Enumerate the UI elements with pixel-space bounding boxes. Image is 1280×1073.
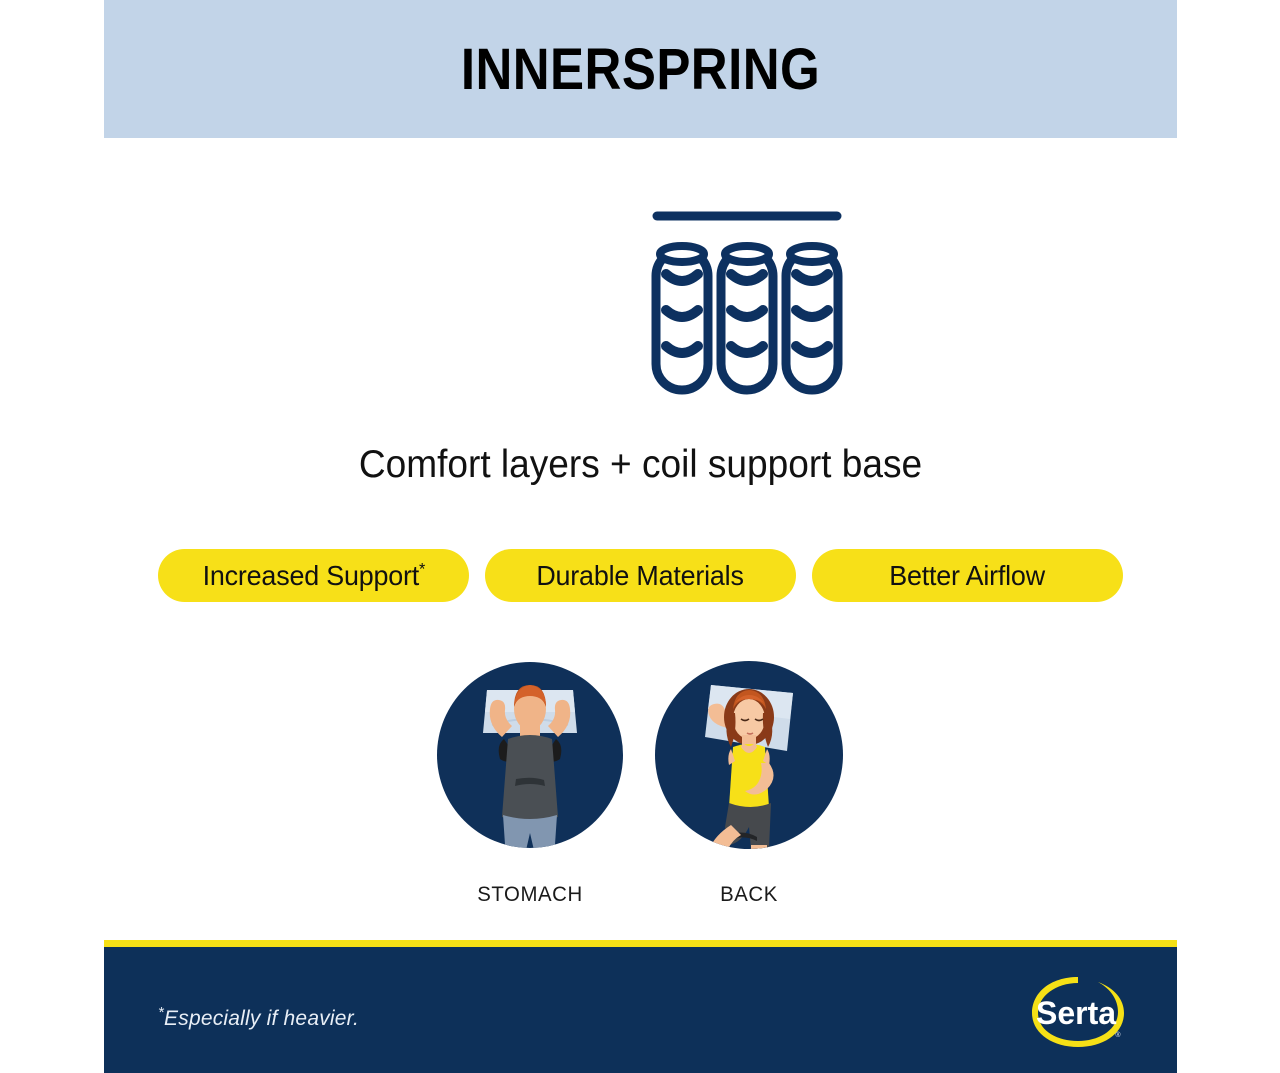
benefit-pill-label: Better Airflow — [890, 560, 1046, 592]
innerspring-infographic: INNERSPRING — [104, 0, 1177, 1073]
benefit-text: Increased Support — [202, 560, 418, 591]
sleep-position-label: BACK — [652, 883, 846, 907]
coil-spring-icon — [534, 200, 954, 400]
registered-mark: ® — [1115, 1031, 1121, 1039]
benefit-pill-better-airflow[interactable]: Better Airflow — [812, 549, 1123, 602]
hero-subtitle: Comfort layers + coil support base — [131, 443, 1150, 487]
footnote-body: Especially if heavier. — [164, 1007, 359, 1030]
benefit-pill-durable-materials[interactable]: Durable Materials — [485, 549, 796, 602]
benefit-pill-label: Durable Materials — [537, 560, 744, 592]
serta-wordmark: Serta — [1036, 995, 1116, 1031]
benefit-text: Durable Materials — [537, 560, 744, 591]
sleep-position-label: STOMACH — [433, 883, 627, 907]
footnote-text: *Especially if heavier. — [158, 1007, 359, 1031]
footnote-marker: * — [419, 559, 425, 578]
stomach-sleeper-illustration — [430, 655, 630, 855]
back-sleeper-illustration — [649, 655, 849, 855]
sleep-position-stomach: STOMACH — [430, 655, 630, 855]
sleep-position-group: STOMACH — [104, 655, 1177, 920]
benefit-text: Better Airflow — [890, 560, 1046, 591]
benefit-pill-increased-support[interactable]: Increased Support* — [158, 549, 469, 602]
benefit-pill-label: Increased Support* — [202, 560, 425, 592]
serta-logo: Serta ® — [1026, 967, 1130, 1057]
footer-bar: *Especially if heavier. Serta ® — [104, 940, 1177, 1073]
page-title: INNERSPRING — [168, 36, 1112, 103]
benefit-pill-group: Increased Support* Durable Materials Bet… — [158, 549, 1123, 602]
sleep-position-back: BACK — [649, 655, 849, 855]
header-banner: INNERSPRING — [104, 0, 1177, 138]
